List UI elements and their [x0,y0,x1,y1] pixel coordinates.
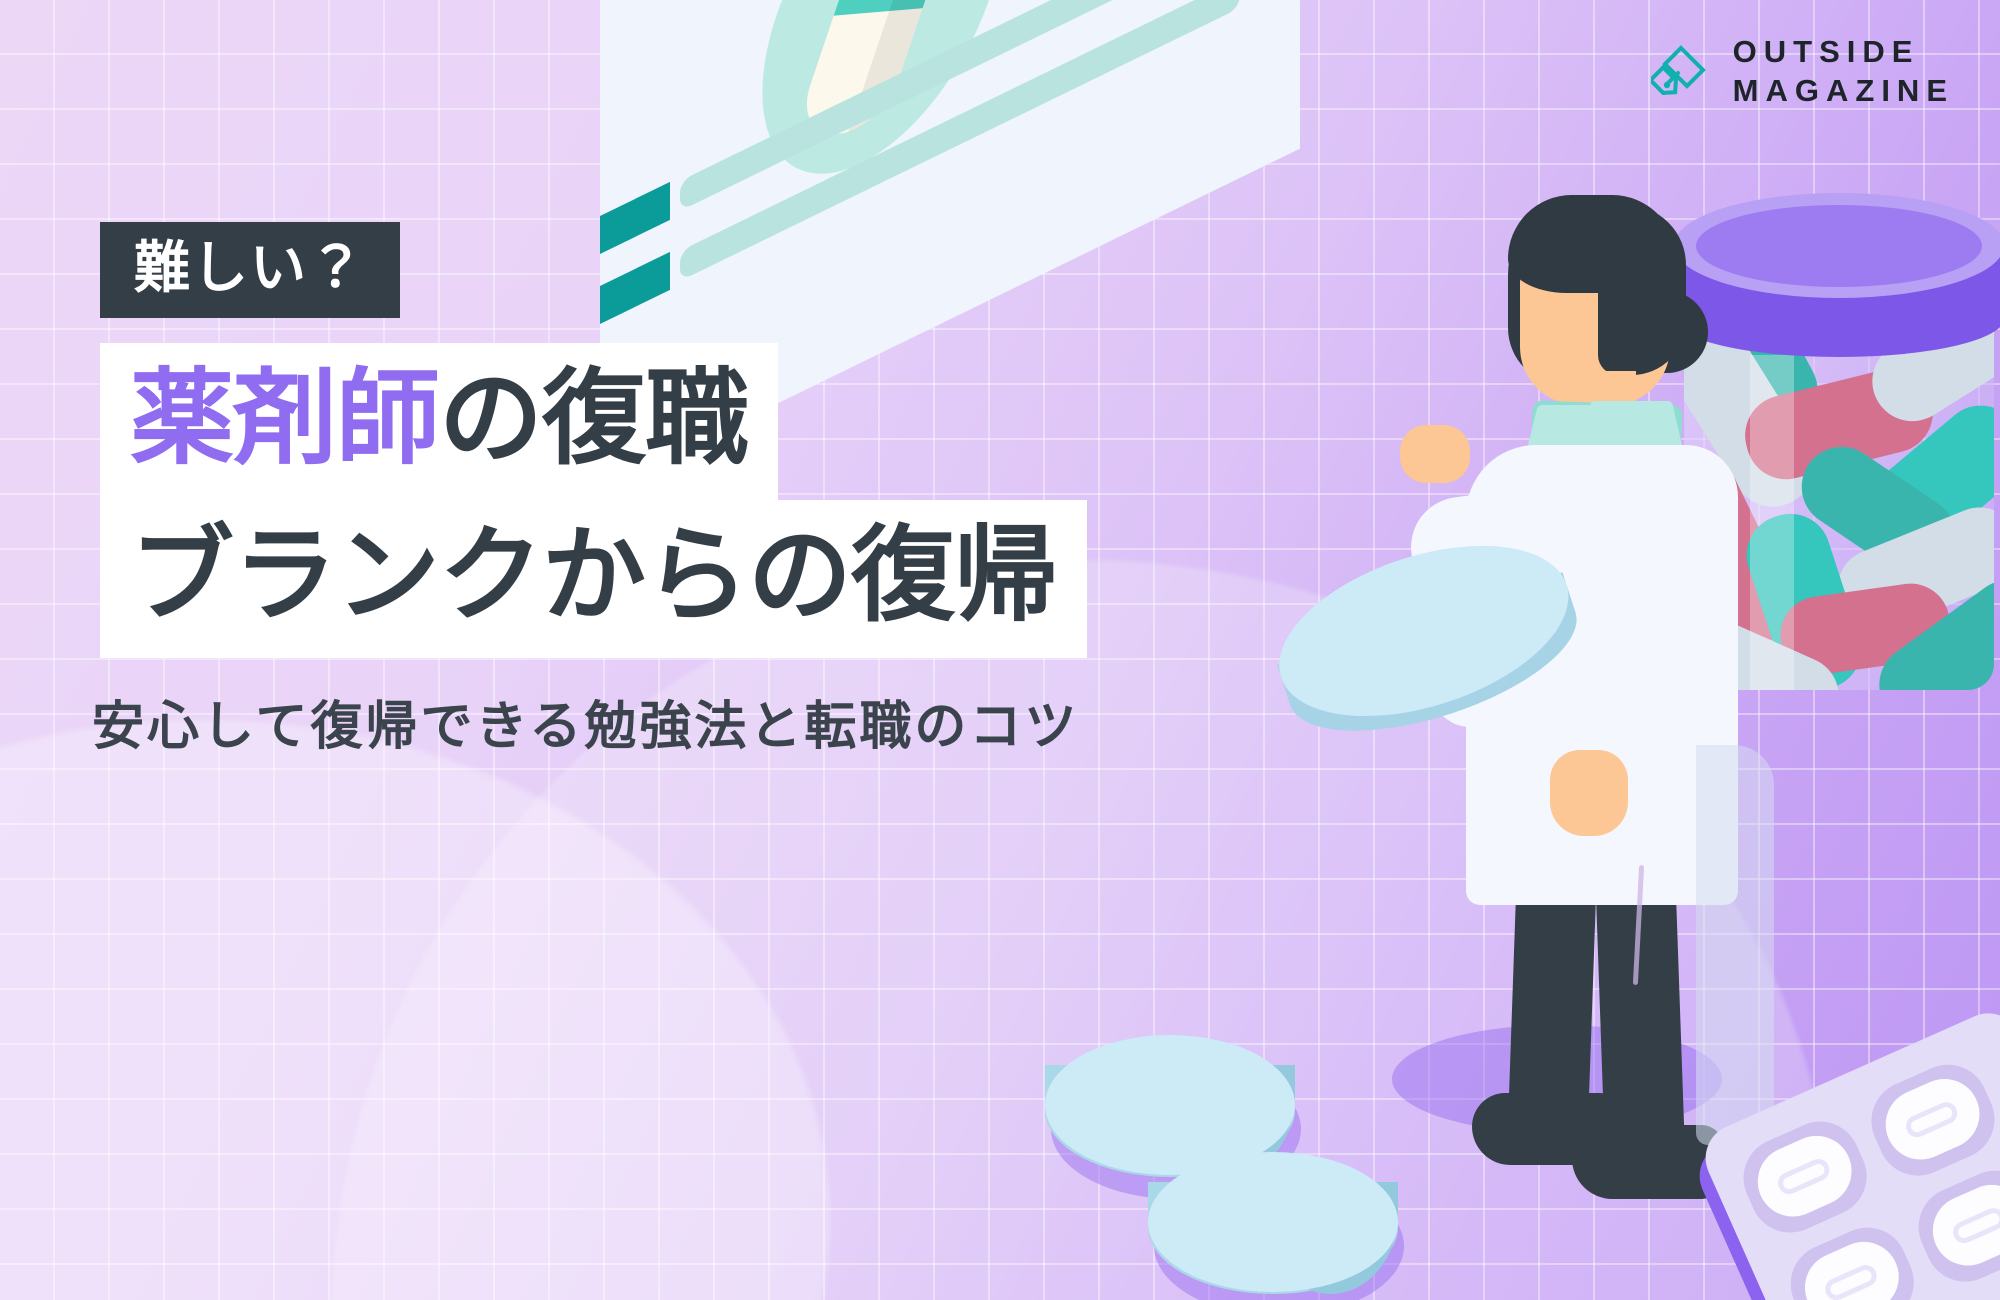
loose-tablet [1148,1152,1398,1300]
brand-line-2: MAGAZINE [1733,75,1954,108]
brand-wordmark: OUTSIDE MAGAZINE [1733,36,1954,107]
blister-pack [1735,1060,2000,1300]
title-accent-word: 薬剤師 [130,361,439,477]
hair-side [1598,205,1686,375]
pen-nib-icon [1651,44,1707,100]
category-tag: 難しい？ [100,222,400,318]
brand-line-1: OUTSIDE [1733,36,1954,69]
board-marker [600,252,670,329]
hand-left [1400,425,1470,483]
subtitle: 安心して復帰できる勉強法と転職のコツ [92,684,1079,759]
title-line-2: ブランクからの復帰 [100,500,1087,658]
title-line-1-rest: の復職 [439,361,748,477]
title-line-1: 薬剤師の復職 [100,343,778,501]
hand-right [1550,750,1628,836]
brand-logo[interactable]: OUTSIDE MAGAZINE [1651,36,1954,107]
board-marker [600,182,670,259]
thumbnail-canvas: 難しい？ 薬剤師の復職 ブランクからの復帰 安心して復帰できる勉強法と転職のコツ… [0,0,2000,1300]
pharmacist-character [1430,195,1760,1155]
